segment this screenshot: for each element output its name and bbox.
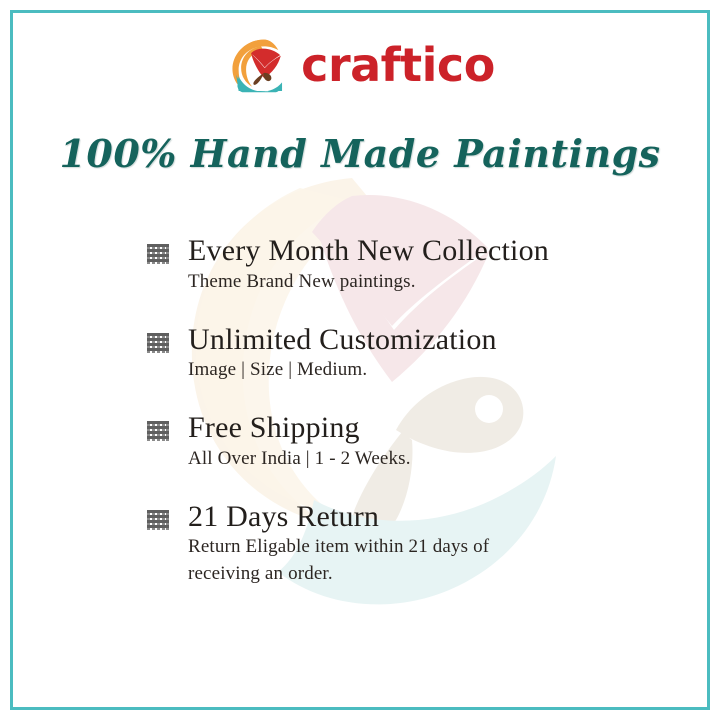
feature-list: Every Month New Collection Theme Brand N… (146, 234, 616, 588)
woven-square-icon (146, 243, 170, 265)
feature-subtitle: Theme Brand New paintings. (188, 269, 616, 296)
woven-square-icon (146, 420, 170, 442)
feature-subtitle: All Over India | 1 - 2 Weeks. (188, 446, 616, 473)
feature-title: 21 Days Return (188, 500, 616, 534)
feature-title: Every Month New Collection (188, 234, 616, 268)
list-item: Free Shipping All Over India | 1 - 2 Wee… (146, 411, 616, 473)
craftico-logo-mark-icon (225, 34, 287, 96)
brand-logo: craftico (0, 34, 720, 96)
feature-subtitle: Image | Size | Medium. (188, 357, 616, 384)
feature-title: Unlimited Customization (188, 323, 616, 357)
list-item: Unlimited Customization Image | Size | M… (146, 323, 616, 385)
feature-subtitle: Return Eligable item within 21 days of r… (188, 534, 548, 588)
list-item: Every Month New Collection Theme Brand N… (146, 234, 616, 296)
promo-banner: craftico 100% Hand Made Paintings (0, 0, 720, 720)
woven-square-icon (146, 332, 170, 354)
list-item: 21 Days Return Return Eligable item with… (146, 500, 616, 589)
banner-content: craftico 100% Hand Made Paintings (0, 0, 720, 720)
page-title: 100% Hand Made Paintings (0, 133, 720, 175)
woven-square-icon (146, 509, 170, 531)
brand-wordmark: craftico (301, 42, 495, 88)
feature-title: Free Shipping (188, 411, 616, 445)
